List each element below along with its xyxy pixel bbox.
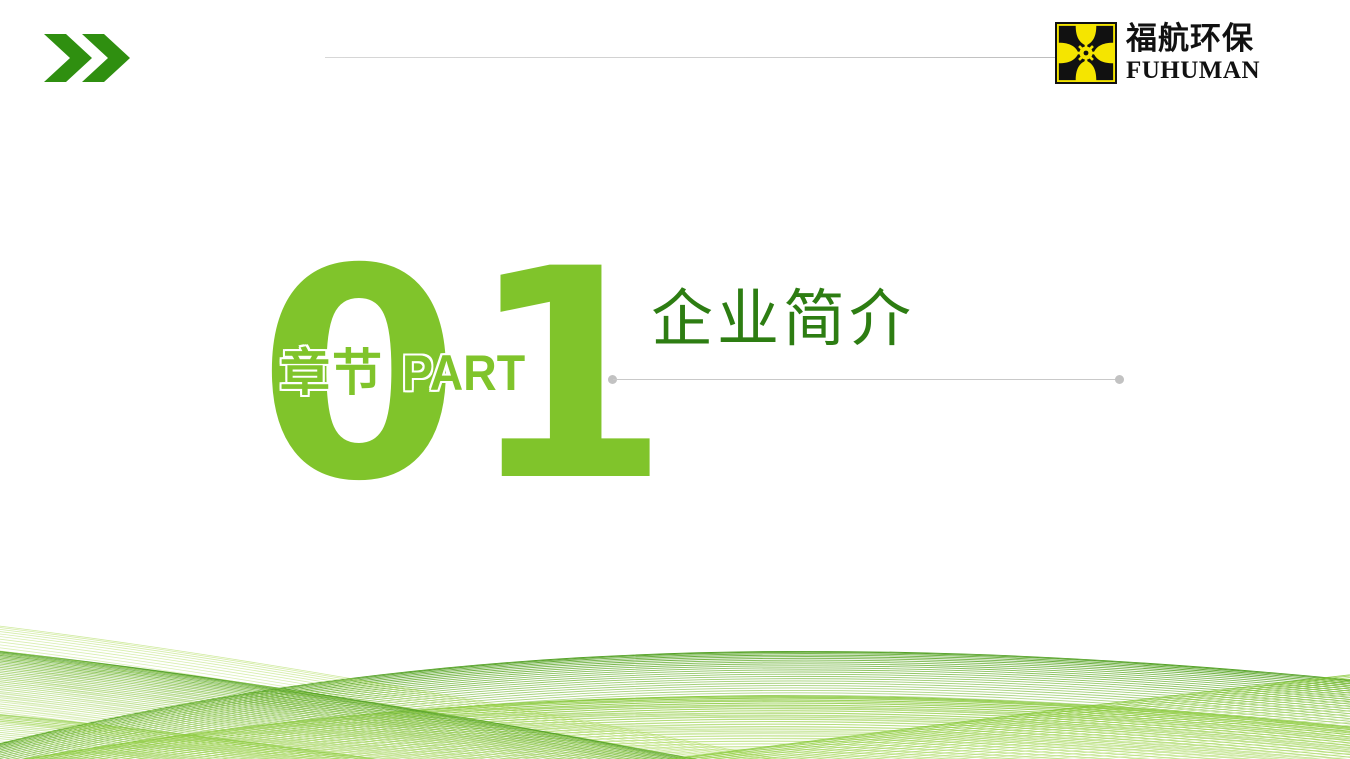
logo-company-en: FUHUMAN — [1126, 58, 1260, 83]
section-number-block: 01 章节 PART — [258, 258, 518, 473]
company-logo: F F F F — [1055, 22, 1260, 84]
slide-canvas: F F F F — [0, 0, 1350, 759]
divider-line — [613, 379, 1119, 380]
logo-company-cn: 福航环保 — [1126, 24, 1260, 55]
header-divider-line — [325, 57, 1060, 58]
page-title: 企业简介 — [651, 285, 915, 353]
section-overlay-cn: 章节 — [280, 348, 384, 398]
logo-wordmark: 福航环保 FUHUMAN — [1126, 24, 1260, 83]
double-chevron-right-icon — [44, 30, 130, 86]
divider-dot-right — [1115, 375, 1124, 384]
section-overlay-en: PART — [402, 348, 525, 398]
green-ribbon-waves — [0, 559, 1350, 759]
fuhuman-logo-mark: F F F F — [1055, 22, 1117, 84]
title-divider — [608, 375, 1124, 384]
svg-text:F: F — [1078, 64, 1093, 79]
svg-text:F: F — [1078, 28, 1093, 43]
section-number-overlay: 章节 PART — [280, 348, 534, 398]
